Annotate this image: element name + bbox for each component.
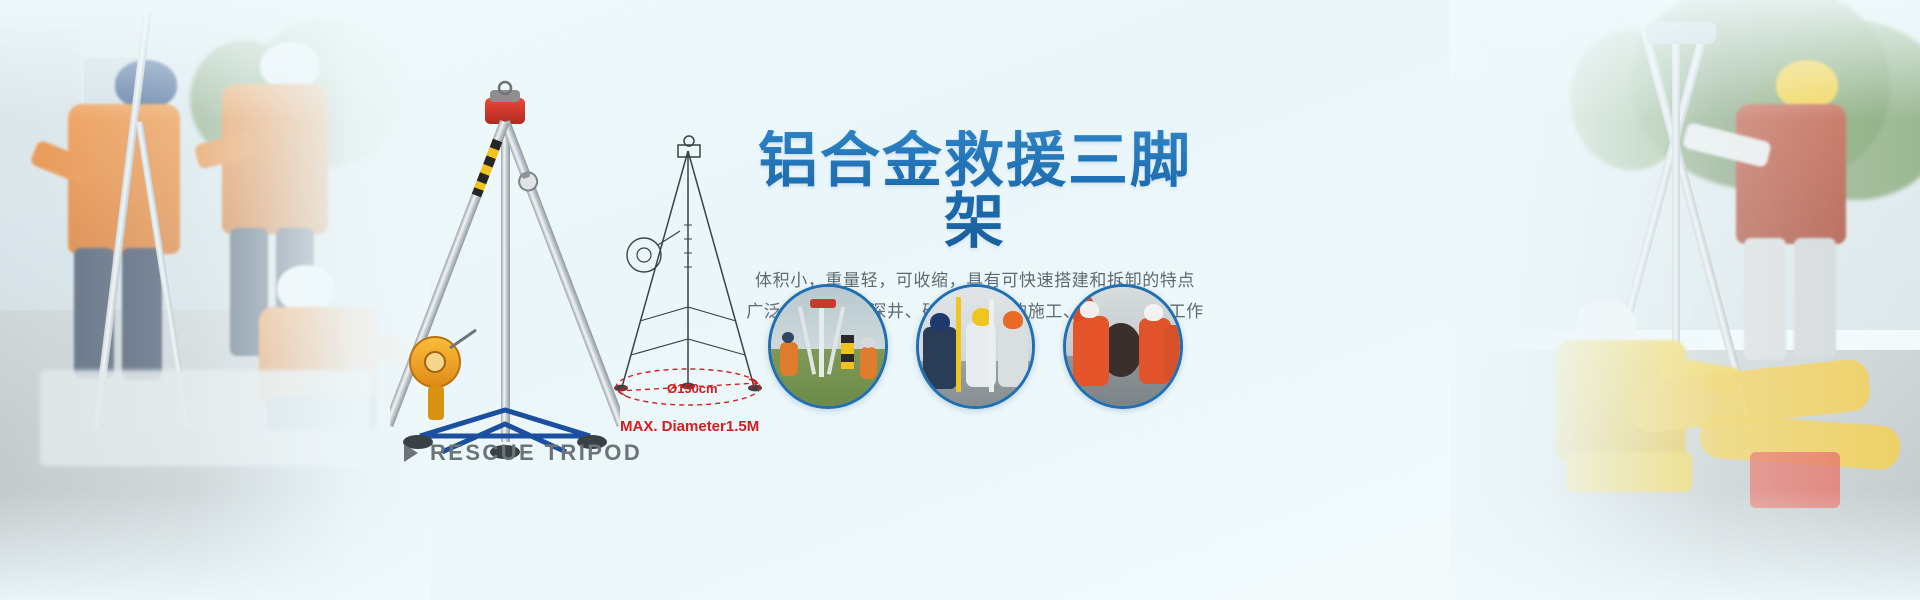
thumbnail-rescue-team-field-operation[interactable]	[768, 284, 888, 409]
thumbnail-workers-inspection-site[interactable]	[916, 284, 1036, 409]
max-diameter-label: MAX. Diameter1.5M	[620, 418, 759, 435]
tripod-winch	[410, 330, 476, 420]
product-banner: Ø150cm MAX. Diameter1.5M RESCUE TRIPOD 铝…	[0, 0, 1920, 600]
banner-title: 铝合金救援三脚架	[745, 130, 1205, 252]
play-triangle-icon	[404, 444, 418, 462]
rescue-tripod-illustration	[390, 80, 620, 470]
diameter-label: Ø150cm	[667, 381, 718, 396]
tripod-head	[485, 82, 525, 124]
left-background-photo	[0, 0, 430, 600]
thumbnail-row	[768, 284, 1183, 409]
product-caption: RESCUE TRIPOD	[404, 440, 642, 466]
caption-text: RESCUE TRIPOD	[430, 440, 642, 466]
right-background-photo	[1450, 0, 1920, 600]
thumbnail-confined-space-rescue[interactable]	[1063, 284, 1183, 409]
